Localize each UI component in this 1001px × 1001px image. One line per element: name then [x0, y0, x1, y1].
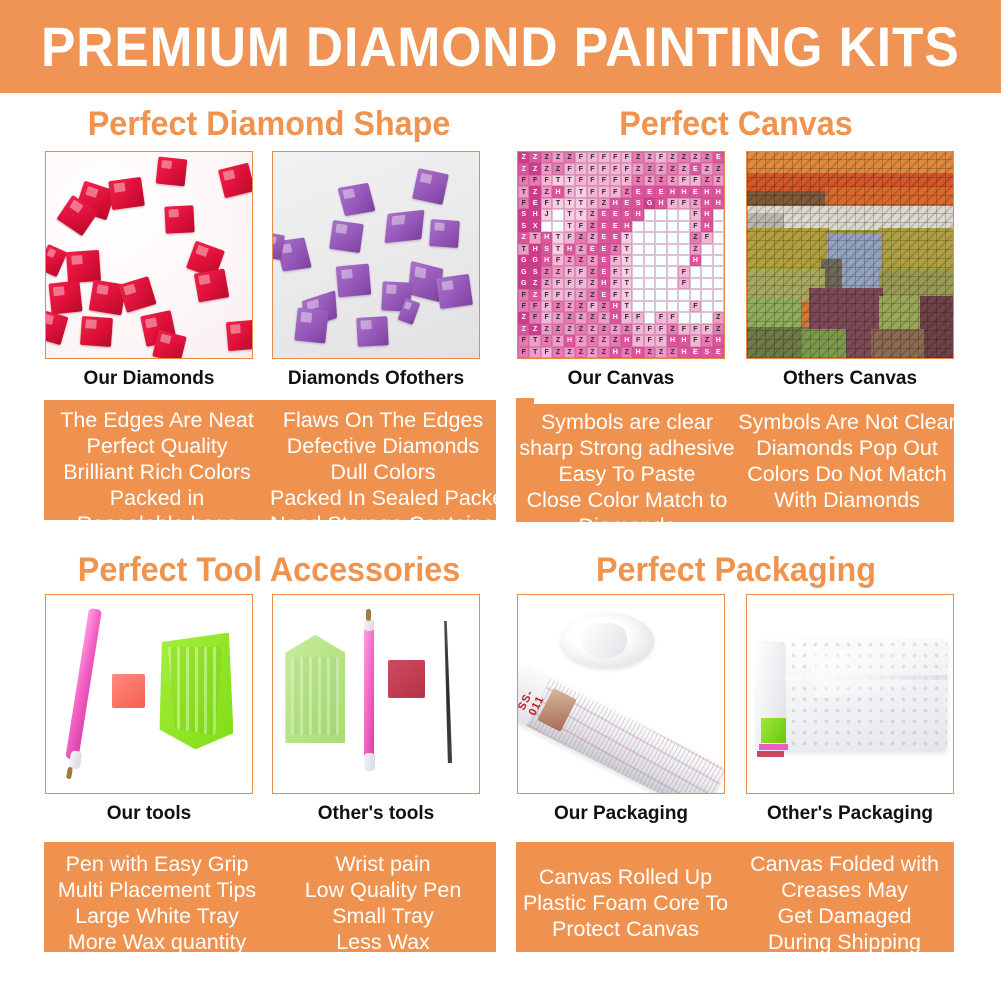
canvas-symbol-cell: F — [690, 324, 701, 335]
canvas-symbol-cell: F — [701, 232, 712, 243]
canvas-symbol-cell: T — [518, 186, 529, 197]
canvas-symbol-cell: G — [518, 278, 529, 289]
canvas-symbol-cell: F — [678, 266, 689, 277]
panel-line: During Shipping — [735, 929, 954, 955]
panel-line: Symbols Are Not Clear — [736, 409, 958, 435]
canvas-symbol-cell: F — [552, 255, 563, 266]
canvas-symbol-cell: T — [644, 289, 655, 300]
canvas-symbol-cell: Y — [644, 209, 655, 220]
canvas-symbol-cell: Z — [564, 347, 575, 358]
panel-line: Wrist pain — [270, 851, 496, 877]
canvas-symbol-cell: F — [587, 186, 598, 197]
canvas-symbol-cell: T — [564, 198, 575, 209]
canvas-symbol-cell: F — [621, 152, 632, 163]
canvas-symbol-cell: F — [610, 175, 621, 186]
canvas-symbol-cell: Z — [621, 347, 632, 358]
canvas-symbol-cell: Z — [529, 289, 540, 300]
canvas-symbol-cell: T — [621, 255, 632, 266]
canvas-symbol-cell: Z — [667, 163, 678, 174]
caption-our-packaging: Our Packaging — [517, 803, 725, 825]
canvas-symbol-cell: H — [632, 347, 643, 358]
canvas-symbol-cell: H — [621, 221, 632, 232]
canvas-symbol-cell: F — [667, 198, 678, 209]
canvas-symbol-cell: Z — [552, 324, 563, 335]
canvas-symbol-cell: E — [598, 244, 609, 255]
canvas-symbol-cell: F — [655, 312, 666, 323]
panel-line: Symbols are clear — [516, 409, 738, 435]
canvas-symbol-cell: Z — [552, 163, 563, 174]
panel-line: The Edges Are Neat — [44, 407, 270, 433]
canvas-symbol-cell: F — [541, 175, 552, 186]
canvas-symbol-cell: H — [621, 335, 632, 346]
canvas-symbol-cell: Z — [564, 301, 575, 312]
small-green-tray — [285, 633, 345, 744]
canvas-symbol-cell: F — [610, 163, 621, 174]
canvas-symbol-cell: J — [667, 209, 678, 220]
panel-column-theirs: Flaws On The EdgesDefective DiamondsDull… — [270, 407, 496, 537]
canvas-symbol-cell: Z — [632, 175, 643, 186]
canvas-symbol-cell: F — [678, 324, 689, 335]
canvas-symbol-cell: T — [621, 278, 632, 289]
canvas-symbol-cell: E — [690, 347, 701, 358]
canvas-symbol-cell: Z — [598, 324, 609, 335]
canvas-symbol-cell: F — [621, 312, 632, 323]
canvas-symbol-cell: F — [587, 163, 598, 174]
panel-line: sharp Strong adhesive — [516, 435, 738, 461]
canvas-symbol-cell: Z — [644, 152, 655, 163]
photo-our-canvas: ZZZZZFFFFFZZFZZZZEZZZZFFFFFFZZZZZEZZFFFT… — [517, 151, 725, 359]
canvas-symbol-cell: H — [701, 198, 712, 209]
canvas-symbol-cell: E — [598, 255, 609, 266]
canvas-symbol-cell: F — [667, 312, 678, 323]
canvas-symbol-cell: Y — [667, 221, 678, 232]
canvas-symbol-cell: F — [598, 186, 609, 197]
canvas-symbol-cell: Z — [587, 312, 598, 323]
canvas-symbol-cell: S — [518, 209, 529, 220]
canvas-symbol-cell: F — [518, 347, 529, 358]
canvas-symbol-cell: F — [518, 175, 529, 186]
canvas-symbol-cell: E — [632, 186, 643, 197]
canvas-symbol-cell: Z — [713, 175, 724, 186]
canvas-symbol-cell: T — [678, 301, 689, 312]
canvas-symbol-cell: Z — [529, 324, 540, 335]
canvas-symbol-cell: Z — [587, 266, 598, 277]
canvas-symbol-cell: T — [667, 289, 678, 300]
canvas-symbol-cell: T — [621, 289, 632, 300]
canvas-symbol-cell: I — [541, 221, 552, 232]
canvas-symbol-cell: T — [667, 266, 678, 277]
canvas-symbol-cell: Z — [552, 301, 563, 312]
canvas-symbol-cell: Z — [541, 278, 552, 289]
canvas-symbol-cell: H — [667, 186, 678, 197]
canvas-symbol-cell: Z — [564, 152, 575, 163]
canvas-symbol-cell: T — [552, 232, 563, 243]
canvas-symbol-cell: Z — [575, 289, 586, 300]
canvas-symbol-cell: S — [518, 221, 529, 232]
canvas-symbol-cell: F — [690, 175, 701, 186]
panel-line: Packed In Sealed Packets — [270, 485, 496, 511]
canvas-symbol-cell: G — [518, 266, 529, 277]
canvas-symbol-cell: Z — [701, 163, 712, 174]
canvas-symbol-cell: E — [610, 232, 621, 243]
canvas-symbol-cell: T — [655, 255, 666, 266]
canvas-symbol-cell: Z — [632, 163, 643, 174]
panel-column-theirs: Wrist painLow Quality PenSmall TrayLess … — [270, 851, 496, 955]
canvas-symbol-cell: Z — [655, 163, 666, 174]
canvas-symbol-cell: F — [575, 175, 586, 186]
canvas-symbol-cell: F — [678, 198, 689, 209]
canvas-symbol-cell: X — [529, 221, 540, 232]
caption-other-tools: Other's tools — [272, 803, 480, 825]
canvas-symbol-cell: Z — [587, 209, 598, 220]
canvas-symbol-cell: T — [678, 244, 689, 255]
canvas-symbol-cell: H — [713, 186, 724, 197]
canvas-symbol-cell: F — [587, 198, 598, 209]
canvas-symbol-cell: F — [541, 198, 552, 209]
panel-line: Large White Tray — [44, 903, 270, 929]
canvas-symbol-cell: Z — [529, 186, 540, 197]
header-band: PREMIUM DIAMOND PAINTING KITS — [0, 0, 1001, 93]
canvas-symbol-cell: T — [564, 209, 575, 220]
canvas-symbol-cell: H — [564, 335, 575, 346]
canvas-symbol-cell: Z — [541, 152, 552, 163]
canvas-symbol-cell: Z — [575, 347, 586, 358]
canvas-symbol-cell: T — [552, 175, 563, 186]
canvas-symbol-cell: Z — [644, 347, 655, 358]
section-title-canvas: Perfect Canvas — [527, 105, 945, 144]
canvas-symbol-cell: J — [655, 232, 666, 243]
canvas-symbol-cell: T — [632, 255, 643, 266]
canvas-symbol-cell: F — [518, 289, 529, 300]
canvas-symbol-cell: T — [678, 221, 689, 232]
canvas-symbol-cell: Z — [518, 312, 529, 323]
panel-line: Dull Colors — [270, 459, 496, 485]
tube-cap-inner — [582, 623, 627, 659]
canvas-symbol-cell: T — [713, 244, 724, 255]
canvas-symbol-cell: Z — [655, 347, 666, 358]
canvas-symbol-cell: E — [655, 186, 666, 197]
panel-line: Close Color Match to — [516, 487, 738, 513]
canvas-symbol-cell: Z — [541, 324, 552, 335]
canvas-symbol-cell: T — [713, 255, 724, 266]
canvas-symbol-cell: T — [621, 232, 632, 243]
canvas-symbol-cell: F — [678, 175, 689, 186]
panel-line: Colors Do Not Match — [736, 461, 958, 487]
canvas-symbol-cell: T — [529, 347, 540, 358]
canvas-symbol-cell: F — [610, 152, 621, 163]
canvas-symbol-cell: Z — [655, 175, 666, 186]
canvas-symbol-cell: T — [632, 278, 643, 289]
canvas-symbol-cell: F — [575, 152, 586, 163]
canvas-symbol-cell: Z — [575, 255, 586, 266]
canvas-symbol-cell: F — [564, 186, 575, 197]
photo-other-diamonds — [272, 151, 480, 359]
canvas-symbol-cell: F — [564, 289, 575, 300]
canvas-symbol-cell: F — [621, 175, 632, 186]
canvas-symbol-cell: Z — [552, 347, 563, 358]
canvas-symbol-cell: F — [644, 324, 655, 335]
canvas-symbol-cell: E — [529, 198, 540, 209]
canvas-symbol-cell: G — [518, 255, 529, 266]
canvas-symbol-cell: T — [701, 278, 712, 289]
canvas-symbol-cell: F — [518, 198, 529, 209]
canvas-symbol-cell: Z — [587, 255, 598, 266]
canvas-symbol-cell: T — [644, 301, 655, 312]
canvas-symbol-cell: H — [655, 198, 666, 209]
canvas-symbol-cell: Z — [621, 186, 632, 197]
canvas-symbol-cell: Z — [667, 347, 678, 358]
caption-others-canvas: Others Canvas — [746, 368, 954, 390]
canvas-symbol-cell: E — [644, 186, 655, 197]
canvas-symbol-cell: J — [644, 244, 655, 255]
canvas-symbol-cell: F — [598, 175, 609, 186]
canvas-symbol-cell: T — [690, 278, 701, 289]
canvas-symbol-cell: Z — [552, 266, 563, 277]
canvas-symbol-cell: T — [575, 198, 586, 209]
canvas-symbol-cell: S — [701, 347, 712, 358]
canvas-symbol-cell: T — [713, 301, 724, 312]
canvas-symbol-cell: T — [678, 209, 689, 220]
canvas-symbol-cell: H — [552, 186, 563, 197]
panel-line: Low Quality Pen — [270, 877, 496, 903]
canvas-symbol-cell: F — [564, 232, 575, 243]
canvas-symbol-cell: E — [598, 266, 609, 277]
canvas-symbol-cell: F — [610, 266, 621, 277]
canvas-symbol-cell: Z — [564, 255, 575, 266]
canvas-symbol-cell: F — [564, 163, 575, 174]
bubble-mailer — [766, 639, 947, 752]
canvas-symbol-cell: F — [552, 278, 563, 289]
panel-column-theirs: Canvas Folded withCreases MayGet Damaged… — [735, 851, 954, 955]
canvas-symbol-cell: F — [518, 301, 529, 312]
canvas-symbol-cell: F — [529, 301, 540, 312]
panel-line: Need Storage Containers — [270, 511, 496, 537]
canvas-symbol-cell: T — [667, 301, 678, 312]
canvas-symbol-cell: Z — [518, 324, 529, 335]
canvas-symbol-cell: Z — [575, 335, 586, 346]
canvas-symbol-cell: Z — [587, 347, 598, 358]
infographic-page: PREMIUM DIAMOND PAINTING KITS Perfect Di… — [0, 0, 1001, 1001]
panel-line: With Diamonds — [736, 487, 958, 513]
canvas-symbol-cell: Z — [541, 335, 552, 346]
canvas-symbol-cell: T — [713, 289, 724, 300]
canvas-symbol-cell: F — [518, 335, 529, 346]
canvas-symbol-cell: Z — [587, 278, 598, 289]
canvas-symbol-cell: T — [713, 209, 724, 220]
canvas-symbol-cell: S — [632, 198, 643, 209]
canvas-symbol-cell: Z — [564, 324, 575, 335]
section-title-tools: Perfect Tool Accessories — [55, 551, 483, 590]
canvas-symbol-cell: T — [678, 232, 689, 243]
canvas-symbol-cell: Z — [552, 312, 563, 323]
canvas-symbol-cell: F — [655, 335, 666, 346]
canvas-symbol-cell: Z — [541, 266, 552, 277]
canvas-symbol-cell: T — [678, 312, 689, 323]
canvas-symbol-cell: Z — [541, 186, 552, 197]
section-title-packaging: Perfect Packaging — [527, 551, 945, 590]
photo-our-tools — [45, 594, 253, 794]
canvas-symbol-cell: Z — [610, 244, 621, 255]
canvas-symbol-cell: E — [610, 221, 621, 232]
canvas-symbol-cell: T — [678, 255, 689, 266]
canvas-symbol-cell: Y — [655, 221, 666, 232]
canvas-symbol-cell: Z — [598, 335, 609, 346]
canvas-symbol-cell: Y — [667, 255, 678, 266]
canvas-symbol-cell: T — [713, 266, 724, 277]
canvas-symbol-cell: E — [610, 209, 621, 220]
canvas-symbol-cell: Z — [575, 244, 586, 255]
canvas-symbol-cell: E — [690, 163, 701, 174]
canvas-symbol-cell: T — [701, 312, 712, 323]
canvas-symbol-cell: H — [713, 335, 724, 346]
canvas-symbol-cell: Z — [667, 324, 678, 335]
canvas-symbol-cell: H — [610, 347, 621, 358]
canvas-symbol-cell: T — [655, 278, 666, 289]
caption-other-packaging: Other's Packaging — [746, 803, 954, 825]
canvas-symbol-cell: Z — [701, 175, 712, 186]
canvas-symbol-cell: H — [610, 198, 621, 209]
canvas-symbol-cell: Z — [552, 335, 563, 346]
panel-column-ours: Symbols are clearsharp Strong adhesiveEa… — [516, 409, 738, 539]
canvas-symbol-cell: Z — [644, 163, 655, 174]
canvas-symbol-cell: Z — [575, 232, 586, 243]
canvas-symbol-cell: Z — [598, 198, 609, 209]
canvas-symbol-cell: Z — [564, 312, 575, 323]
canvas-symbol-cell: Z — [518, 232, 529, 243]
canvas-symbol-cell: T — [518, 244, 529, 255]
canvas-symbol-cell: T — [655, 289, 666, 300]
canvas-symbol-cell: T — [564, 175, 575, 186]
panel-column-ours: The Edges Are NeatPerfect QualityBrillia… — [44, 407, 270, 537]
canvas-symbol-cell: T — [552, 198, 563, 209]
canvas-symbol-cell: H — [529, 244, 540, 255]
canvas-symbol-cell: H — [713, 198, 724, 209]
canvas-symbol-cell: Z — [690, 244, 701, 255]
pink-pen — [364, 627, 374, 760]
canvas-symbol-cell: H — [667, 335, 678, 346]
canvas-symbol-cell: T — [701, 255, 712, 266]
canvas-symbol-cell: Z — [518, 163, 529, 174]
canvas-symbol-cell: E — [598, 209, 609, 220]
caption-other-diamonds: Diamonds Ofothers — [272, 368, 480, 390]
canvas-symbol-cell: T — [713, 221, 724, 232]
canvas-symbol-cell: F — [690, 335, 701, 346]
canvas-symbol-cell: F — [598, 163, 609, 174]
canvas-symbol-cell: I — [552, 209, 563, 220]
canvas-symbol-cell: I — [552, 221, 563, 232]
canvas-symbol-cell: T — [655, 301, 666, 312]
canvas-symbol-cell: Z — [598, 312, 609, 323]
contents-wax — [757, 751, 784, 757]
canvas-symbol-cell: Z — [667, 175, 678, 186]
canvas-symbol-cell: T — [632, 289, 643, 300]
canvas-symbol-cell: Z — [529, 152, 540, 163]
canvas-symbol-cell: F — [587, 301, 598, 312]
canvas-symbol-cell: Z — [667, 152, 678, 163]
panel-line: Packed in — [44, 485, 270, 511]
canvas-symbol-cell: F — [621, 163, 632, 174]
canvas-symbol-cell: Z — [575, 301, 586, 312]
canvas-symbol-cell: F — [587, 152, 598, 163]
panel-line: Small Tray — [270, 903, 496, 929]
canvas-symbol-cell: J — [644, 221, 655, 232]
panel-line: Brilliant Rich Colors — [44, 459, 270, 485]
canvas-symbol-cell: H — [701, 209, 712, 220]
canvas-symbol-cell: F — [690, 221, 701, 232]
canvas-symbol-cell: E — [621, 198, 632, 209]
canvas-symbol-cell: Z — [587, 221, 598, 232]
canvas-symbol-cell: F — [632, 335, 643, 346]
canvas-symbol-cell: Z — [598, 347, 609, 358]
canvas-symbol-cell: F — [587, 175, 598, 186]
canvas-symbol-cell: Z — [621, 324, 632, 335]
canvas-symbol-cell: T — [644, 255, 655, 266]
canvas-symbol-texture — [747, 152, 953, 358]
panel-packaging: Canvas Rolled UpPlastic Foam Core ToProt… — [516, 842, 954, 952]
canvas-symbol-cell: Z — [598, 301, 609, 312]
canvas-symbol-cell: Z — [644, 175, 655, 186]
canvas-symbol-cell: T — [690, 266, 701, 277]
canvas-symbol-cell: T — [690, 312, 701, 323]
canvas-symbol-cell: H — [529, 209, 540, 220]
panel-line: Canvas Folded with — [735, 851, 954, 877]
panel-column-theirs: Symbols Are Not ClearDiamonds Pop OutCol… — [736, 409, 958, 513]
canvas-symbol-cell: H — [610, 312, 621, 323]
canvas-symbol-cell: Z — [529, 163, 540, 174]
canvas-symbol-cell: T — [701, 289, 712, 300]
canvas-symbol-cell: H — [678, 335, 689, 346]
canvas-symbol-cell: T — [529, 232, 540, 243]
panel-line: More Wax quantity — [44, 929, 270, 955]
canvas-symbol-cell: F — [575, 266, 586, 277]
canvas-symbol-cell: Z — [575, 312, 586, 323]
panel-line: Plastic Foam Core To — [516, 890, 735, 916]
canvas-symbol-cell: F — [610, 278, 621, 289]
green-tray — [157, 633, 233, 750]
page-title: PREMIUM DIAMOND PAINTING KITS — [41, 14, 960, 79]
caption-our-tools: Our tools — [45, 803, 253, 825]
canvas-symbol-cell: H — [701, 221, 712, 232]
canvas-symbol-cell: T — [644, 232, 655, 243]
canvas-symbol-cell: G — [644, 198, 655, 209]
canvas-symbol-cell: J — [632, 232, 643, 243]
canvas-symbol-cell: T — [632, 301, 643, 312]
canvas-symbol-cell: F — [632, 312, 643, 323]
canvas-symbol-cell: F — [541, 347, 552, 358]
wax-square — [388, 660, 425, 698]
photo-our-packaging: SS-011 — [517, 594, 725, 794]
panel-line: Easy To Paste — [516, 461, 738, 487]
canvas-symbol-cell: Z — [713, 163, 724, 174]
canvas-symbol-cell: E — [713, 152, 724, 163]
canvas-symbol-cell: F — [529, 175, 540, 186]
canvas-symbol-cell: F — [678, 278, 689, 289]
panel-line: Multi Placement Tips — [44, 877, 270, 903]
photo-other-packaging — [746, 594, 954, 794]
canvas-symbol-cell: F — [575, 278, 586, 289]
canvas-symbol-cell: F — [690, 301, 701, 312]
contents-pink-pen — [759, 744, 788, 751]
canvas-symbol-cell: T — [667, 278, 678, 289]
canvas-symbol-cell: T — [564, 221, 575, 232]
panel-line: Perfect Quality — [44, 433, 270, 459]
canvas-symbol-cell: E — [713, 347, 724, 358]
canvas-symbol-cell: T — [529, 335, 540, 346]
canvas-symbol-cell: Z — [701, 152, 712, 163]
panel-line: Protect Canvas — [516, 916, 735, 942]
photo-others-canvas — [746, 151, 954, 359]
canvas-symbol-cell: H — [541, 232, 552, 243]
